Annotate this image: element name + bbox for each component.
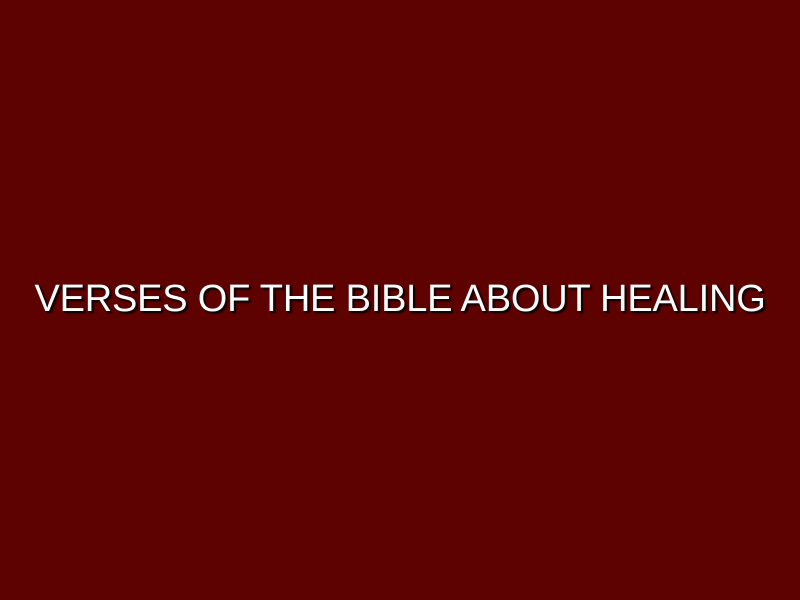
page-title: VERSES OF THE BIBLE ABOUT HEALING (34, 280, 765, 320)
headline-band: VERSES OF THE BIBLE ABOUT HEALING (0, 280, 800, 320)
title-card: VERSES OF THE BIBLE ABOUT HEALING (0, 0, 800, 600)
